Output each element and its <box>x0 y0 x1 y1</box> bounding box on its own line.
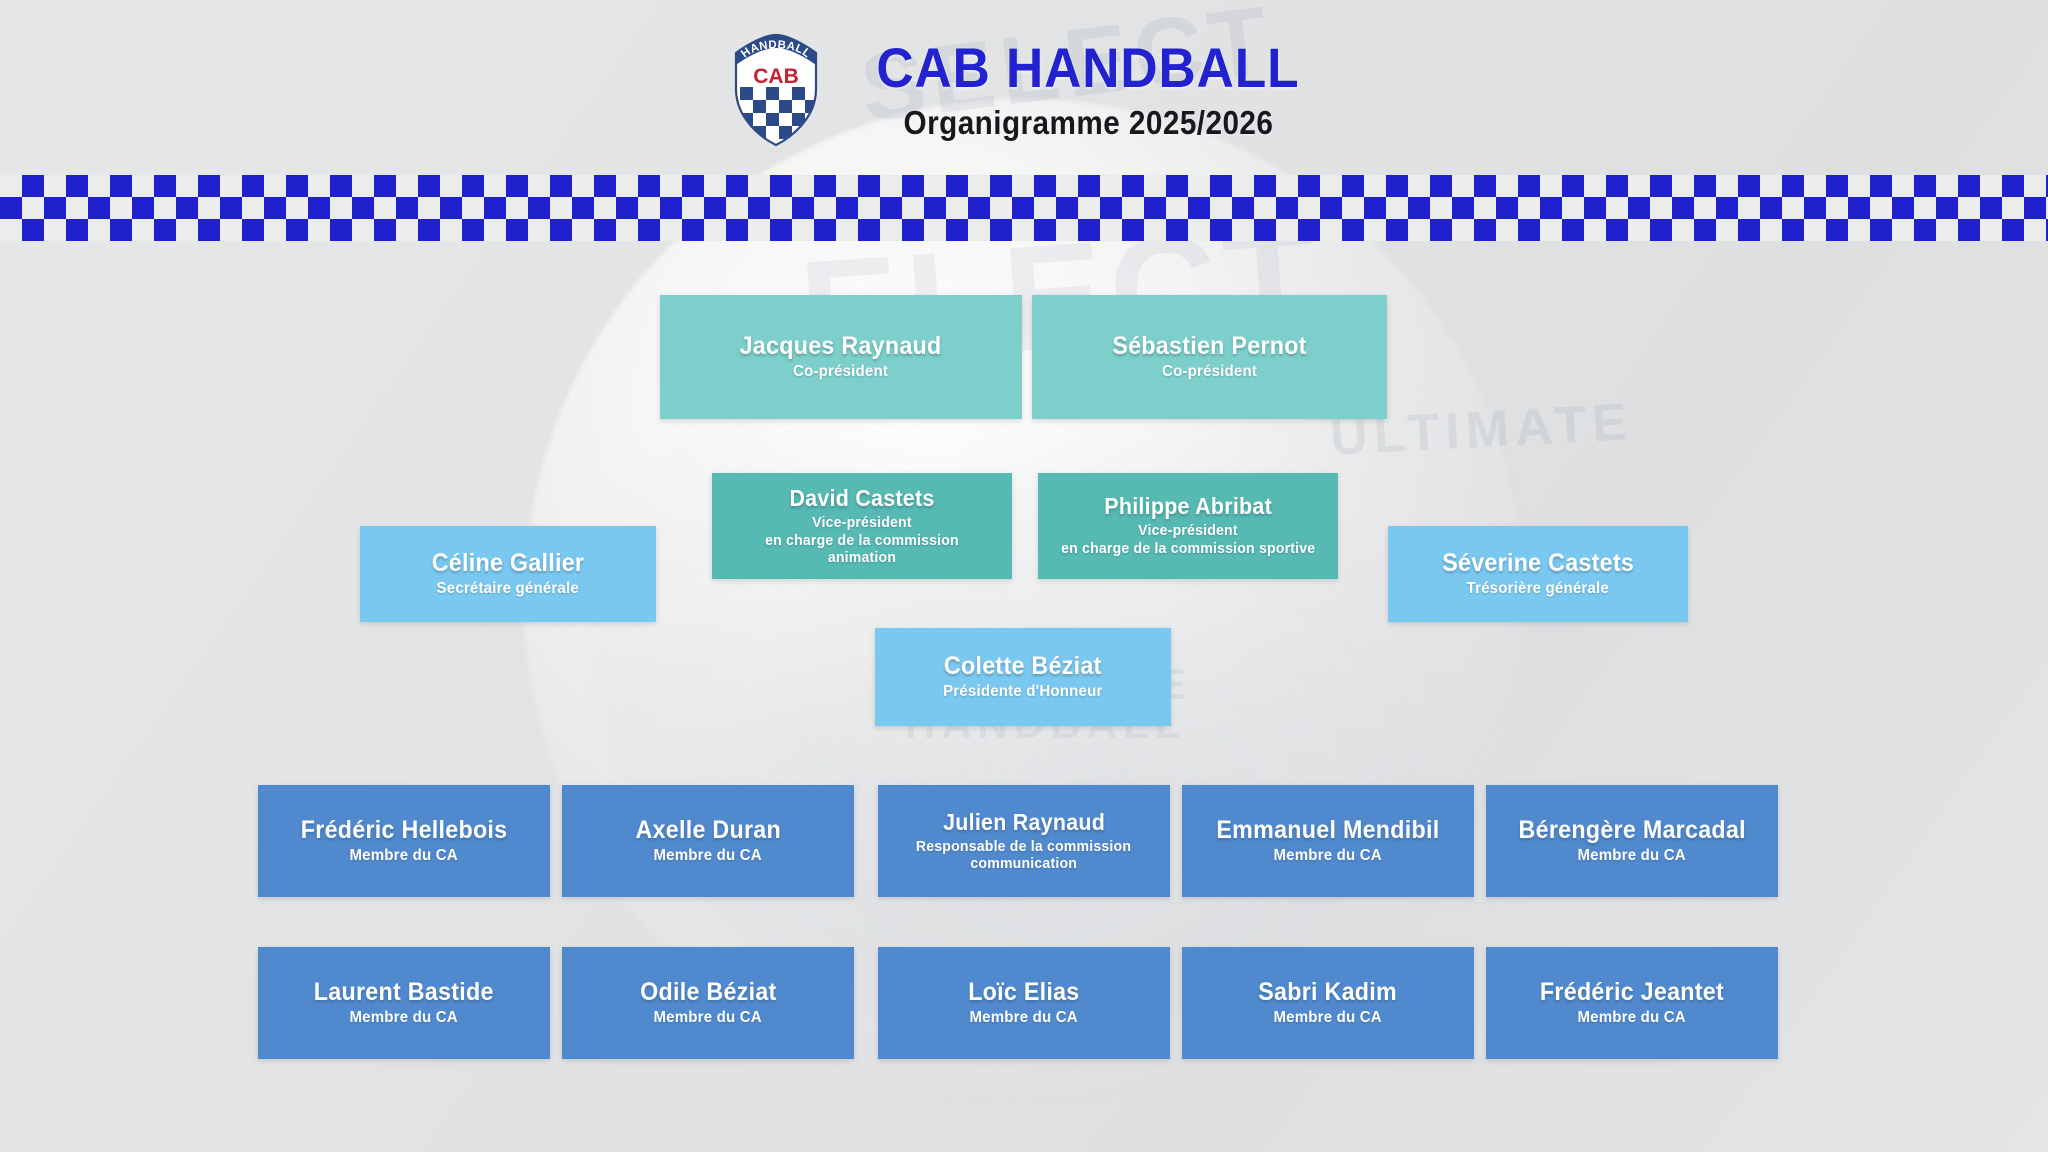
page-header: HANDBALL CAB CAB HANDBALL Organigramme 2… <box>0 0 2048 175</box>
node-role: Vice-président <box>812 514 912 531</box>
node-name: Philippe Abribat <box>1104 494 1272 519</box>
org-node-president-2[interactable]: Sébastien Pernot Co-président <box>1032 295 1387 419</box>
node-name: Jacques Raynaud <box>740 333 942 360</box>
node-role: Présidente d'Honneur <box>943 683 1102 701</box>
page-subtitle: Organigramme 2025/2026 <box>903 104 1273 142</box>
org-node-board-member[interactable]: Laurent Bastide Membre du CA <box>258 947 550 1059</box>
org-node-board-member[interactable]: Loïc Elias Membre du CA <box>878 947 1170 1059</box>
node-name: Loïc Elias <box>968 979 1079 1006</box>
node-name: Sabri Kadim <box>1259 979 1398 1006</box>
node-name: Frédéric Hellebois <box>301 817 508 844</box>
org-node-honorary-president[interactable]: Colette Béziat Présidente d'Honneur <box>875 628 1171 726</box>
node-name: Céline Gallier <box>432 550 585 577</box>
node-role: Membre du CA <box>654 1009 762 1027</box>
node-name: Emmanuel Mendibil <box>1216 817 1439 844</box>
node-name: Frédéric Jeantet <box>1540 979 1724 1006</box>
node-role-detail: en charge de la commission animation <box>730 532 993 566</box>
title-block: CAB HANDBALL Organigramme 2025/2026 <box>858 39 1318 142</box>
node-role: Membre du CA <box>1578 1009 1686 1027</box>
node-name: Axelle Duran <box>635 817 780 844</box>
node-role: Co-président <box>1162 363 1257 381</box>
node-role: Vice-président <box>1138 522 1238 539</box>
cab-handball-logo-icon: HANDBALL CAB <box>730 31 822 149</box>
node-role: Membre du CA <box>970 1009 1078 1027</box>
node-role: Membre du CA <box>350 1009 458 1027</box>
node-name: Colette Béziat <box>944 653 1102 680</box>
node-role-detail: en charge de la commission sportive <box>1061 540 1315 557</box>
node-role: Membre du CA <box>1274 847 1382 865</box>
org-node-board-member[interactable]: Bérengère Marcadal Membre du CA <box>1486 785 1778 897</box>
org-node-board-member[interactable]: Frédéric Jeantet Membre du CA <box>1486 947 1778 1059</box>
org-node-treasurer[interactable]: Séverine Castets Trésorière générale <box>1388 526 1688 622</box>
page-title: CAB HANDBALL <box>876 39 1299 96</box>
node-role-detail: communication <box>971 855 1078 872</box>
org-node-board-member[interactable]: Axelle Duran Membre du CA <box>562 785 854 897</box>
node-role: Co-président <box>793 363 888 381</box>
node-name: Bérengère Marcadal <box>1518 817 1745 844</box>
node-name: Odile Béziat <box>640 979 776 1006</box>
node-name: Sébastien Pernot <box>1112 333 1306 360</box>
org-node-president-1[interactable]: Jacques Raynaud Co-président <box>660 295 1022 419</box>
org-chart: Jacques Raynaud Co-président Sébastien P… <box>0 241 2048 1152</box>
org-node-vice-president-1[interactable]: David Castets Vice-président en charge d… <box>712 473 1012 579</box>
node-name: Séverine Castets <box>1442 550 1634 577</box>
node-role: Membre du CA <box>654 847 762 865</box>
org-node-board-member-communication[interactable]: Julien Raynaud Responsable de la commiss… <box>878 785 1170 897</box>
svg-text:CAB: CAB <box>753 65 799 88</box>
node-name: David Castets <box>789 486 934 511</box>
org-node-vice-president-2[interactable]: Philippe Abribat Vice-président en charg… <box>1038 473 1338 579</box>
node-role: Membre du CA <box>1578 847 1686 865</box>
org-node-board-member[interactable]: Odile Béziat Membre du CA <box>562 947 854 1059</box>
org-node-board-member[interactable]: Frédéric Hellebois Membre du CA <box>258 785 550 897</box>
org-node-board-member[interactable]: Emmanuel Mendibil Membre du CA <box>1182 785 1474 897</box>
node-name: Julien Raynaud <box>943 810 1105 835</box>
node-role: Responsable de la commission <box>916 838 1131 855</box>
node-role: Secrétaire générale <box>437 580 579 598</box>
org-node-board-member[interactable]: Sabri Kadim Membre du CA <box>1182 947 1474 1059</box>
node-role: Trésorière générale <box>1467 580 1609 598</box>
org-node-secretary[interactable]: Céline Gallier Secrétaire générale <box>360 526 656 622</box>
checkerboard-divider <box>0 175 2048 241</box>
node-name: Laurent Bastide <box>314 979 494 1006</box>
node-role: Membre du CA <box>350 847 458 865</box>
node-role: Membre du CA <box>1274 1009 1382 1027</box>
